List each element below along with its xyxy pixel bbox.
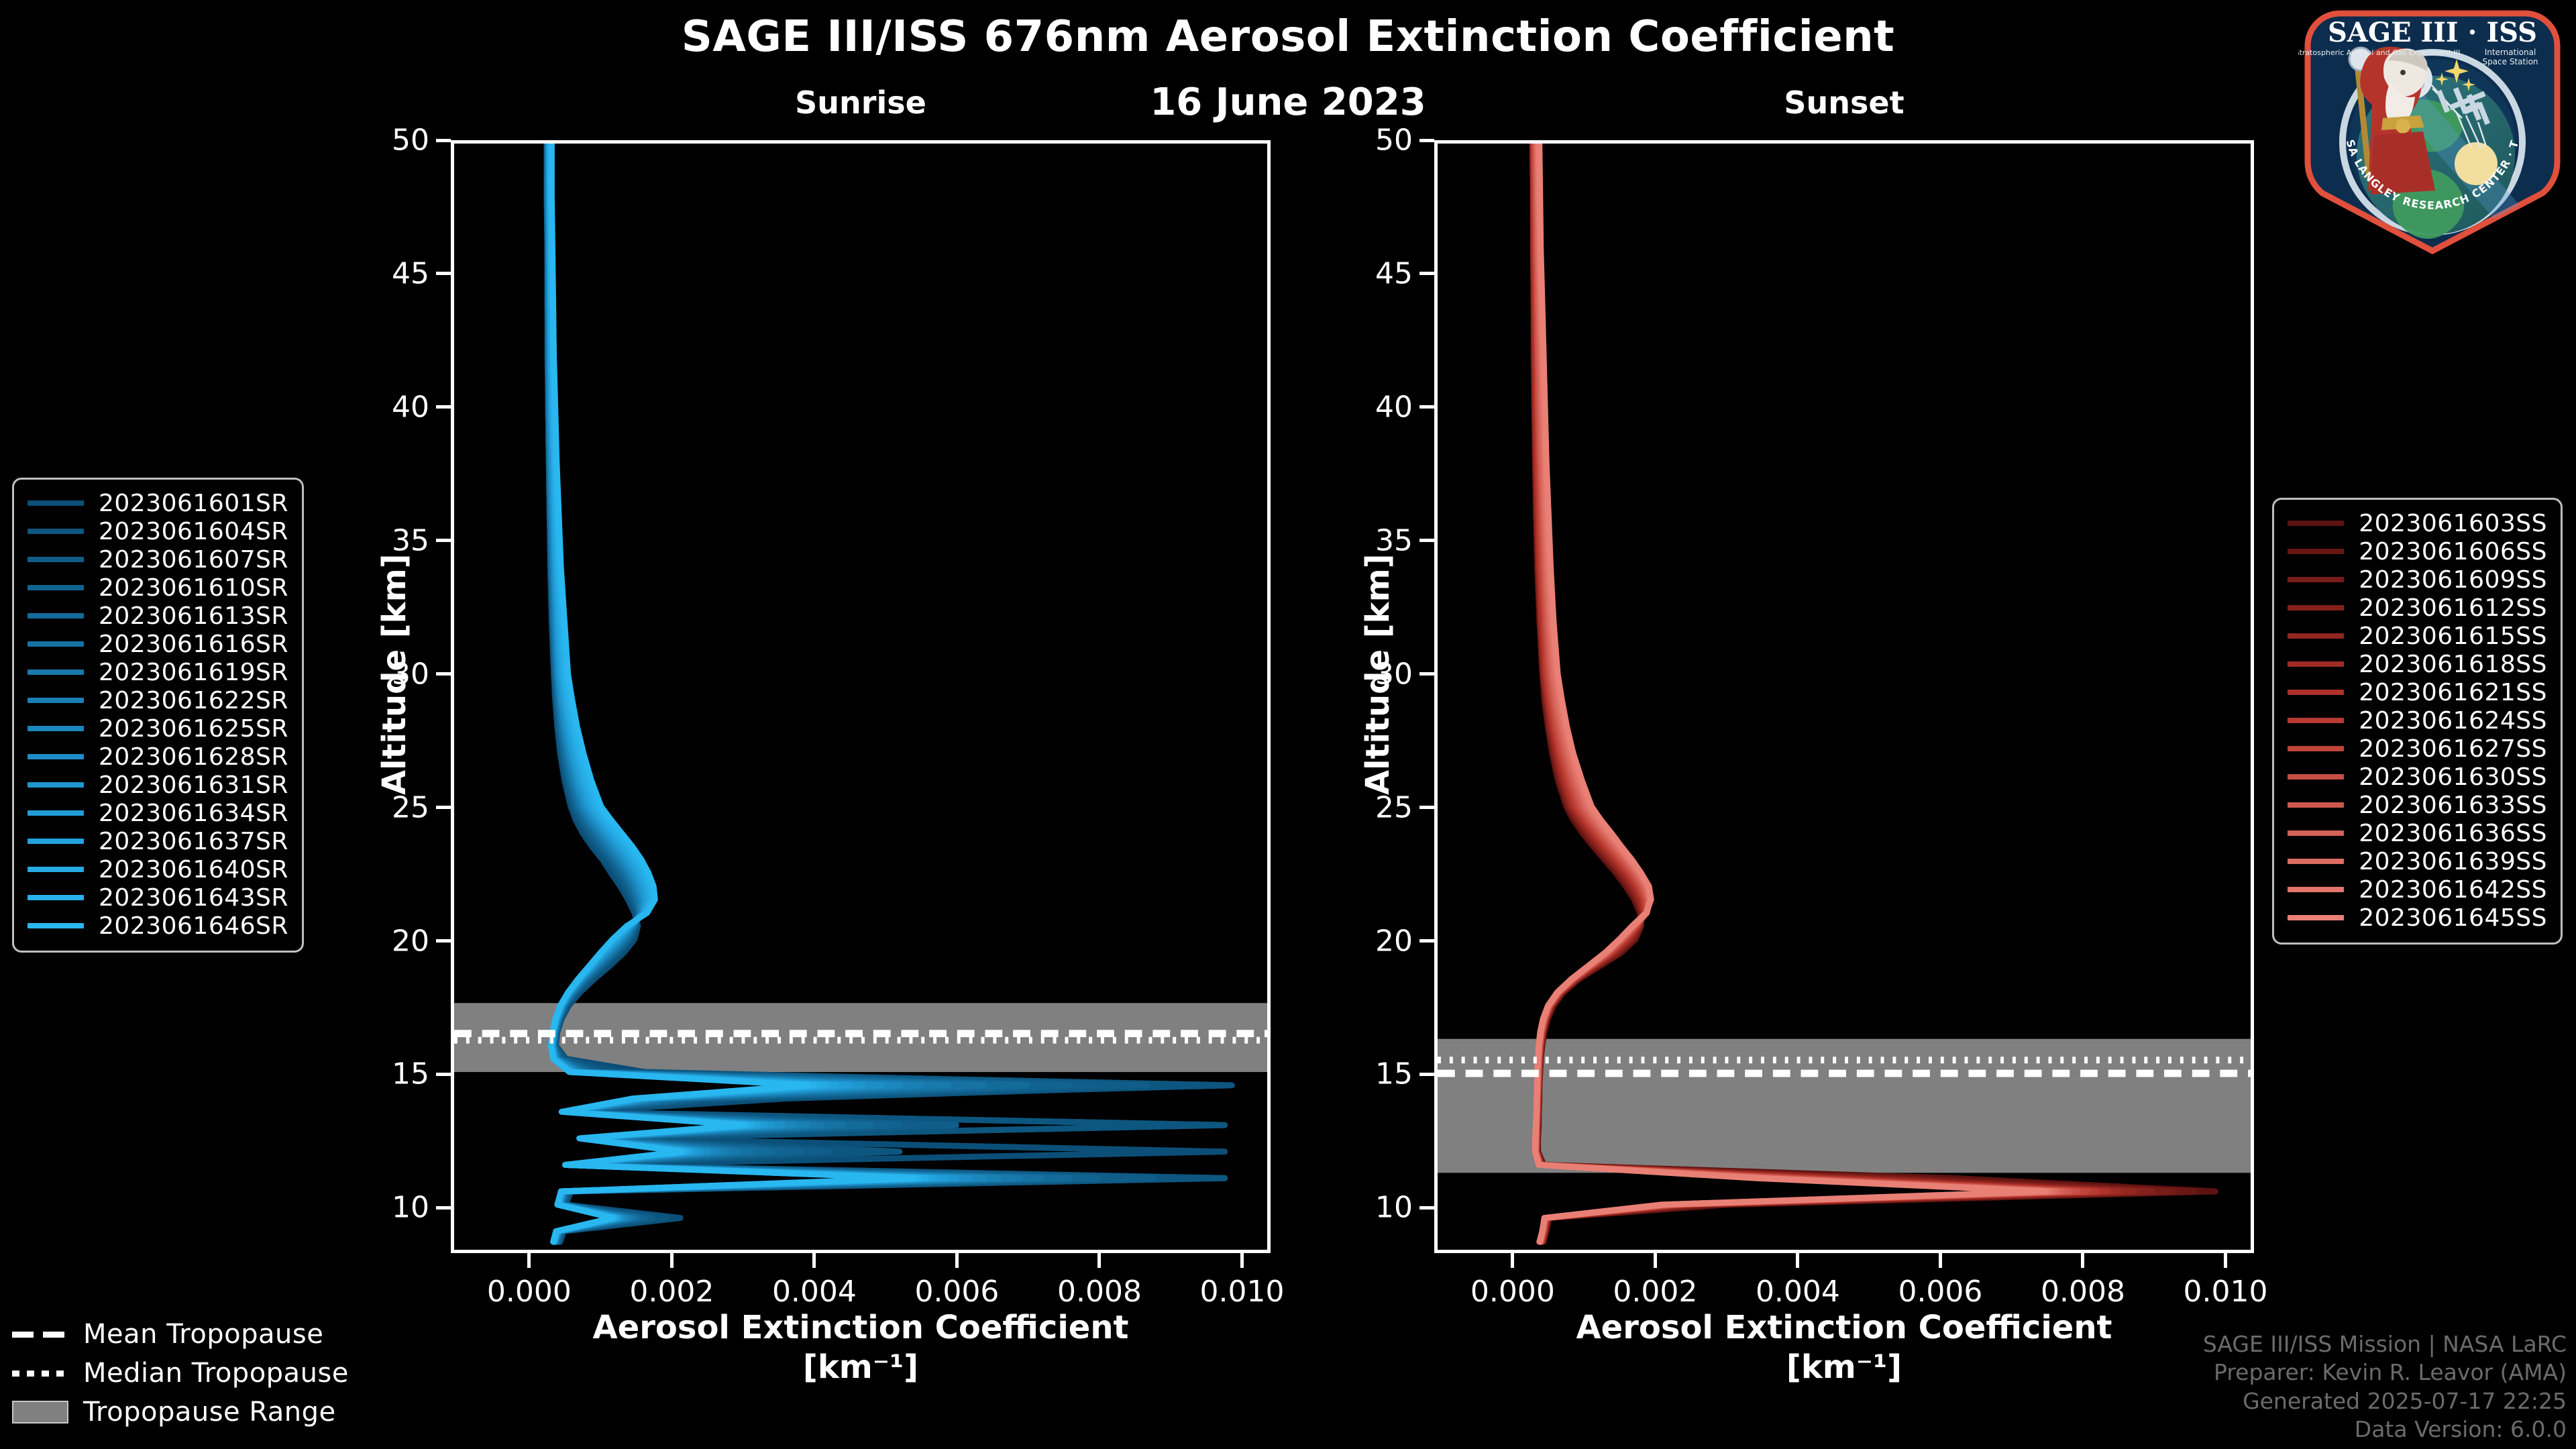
- xtick-label: 0.006: [1898, 1275, 1982, 1309]
- legend-item-label: Tropopause Range: [83, 1397, 336, 1428]
- legend-color-swatch: [28, 557, 84, 562]
- mean-tropopause-dashed-swatch: [12, 1326, 68, 1343]
- legend-item-2023061604SR[interactable]: 2023061604SR: [28, 517, 288, 545]
- ytick-label: 45: [343, 256, 429, 290]
- ytick-label: 20: [343, 924, 429, 958]
- legend-item-2023061643SR[interactable]: 2023061643SR: [28, 883, 288, 912]
- legend-item-2023061607SR[interactable]: 2023061607SR: [28, 545, 288, 574]
- ytick-mark: [436, 806, 451, 809]
- legend-item-label: Median Tropopause: [83, 1358, 349, 1389]
- legend-item-label: 2023061646SR: [99, 912, 288, 940]
- ytick-label: 20: [1327, 924, 1413, 958]
- legend-item-2023061612SS[interactable]: 2023061612SS: [2288, 594, 2547, 622]
- legend-item-2023061613SR[interactable]: 2023061613SR: [28, 602, 288, 630]
- profile-curves-sunrise: [454, 144, 1267, 1250]
- yaxis-title-sunrise: Altitude [km]: [376, 553, 413, 795]
- ytick-mark: [1419, 806, 1434, 809]
- legend-color-swatch: [2288, 549, 2344, 554]
- legend-item-label: 2023061603SS: [2359, 510, 2547, 537]
- page-title: SAGE III/ISS 676nm Aerosol Extinction Co…: [0, 12, 2576, 62]
- ytick-mark: [436, 672, 451, 676]
- xtick-mark: [1654, 1253, 1657, 1268]
- ytick-label: 40: [1327, 390, 1413, 424]
- xtick-label: 0.004: [772, 1275, 857, 1309]
- legend-item-label: 2023061628SR: [99, 743, 288, 771]
- legend-item-2023061634SR[interactable]: 2023061634SR: [28, 799, 288, 827]
- legend-item-label: 2023061621SS: [2359, 679, 2547, 706]
- logo-subtitle-right-1: International: [2485, 48, 2536, 57]
- legend-item-label: 2023061606SS: [2359, 538, 2547, 566]
- xaxis-title-line1: Aerosol Extinction Coefficient: [1434, 1308, 2254, 1348]
- ytick-mark: [436, 1073, 451, 1076]
- xtick-mark: [1796, 1253, 1799, 1268]
- credits-line-3: Generated 2025-07-17 22:25: [2203, 1387, 2567, 1415]
- legend-item-label: 2023061607SR: [99, 546, 288, 574]
- legend-color-swatch: [2288, 605, 2344, 610]
- xtick-mark: [2224, 1253, 2227, 1268]
- ytick-label: 15: [343, 1057, 429, 1091]
- legend-item-label: 2023061616SR: [99, 631, 288, 658]
- legend-item-2023061640SR[interactable]: 2023061640SR: [28, 855, 288, 883]
- legend-item-label: 2023061633SS: [2359, 792, 2547, 819]
- legend-color-swatch: [28, 698, 84, 703]
- xtick-label: 0.006: [914, 1275, 999, 1309]
- legend-item-label: 2023061637SR: [99, 828, 288, 855]
- ytick-mark: [436, 1206, 451, 1210]
- legend-item-2023061636SS[interactable]: 2023061636SS: [2288, 819, 2547, 847]
- legend-item-label: 2023061601SR: [99, 490, 288, 517]
- xtick-mark: [1511, 1253, 1514, 1268]
- credits: SAGE III/ISS Mission | NASA LaRC Prepare…: [2203, 1330, 2567, 1444]
- xaxis-title-line2: [km⁻¹]: [1434, 1348, 2254, 1387]
- ytick-label: 35: [343, 523, 429, 557]
- legend-color-swatch: [28, 585, 84, 590]
- legend-item-label: 2023061645SS: [2359, 904, 2547, 932]
- legend-item-label: 2023061604SR: [99, 518, 288, 545]
- legend-color-swatch: [2288, 633, 2344, 639]
- ytick-mark: [1419, 539, 1434, 542]
- legend-sunset[interactable]: 2023061603SS2023061606SS2023061609SS2023…: [2272, 498, 2563, 945]
- legend-item-label: 2023061613SR: [99, 602, 288, 630]
- legend-item-label: 2023061618SS: [2359, 651, 2547, 678]
- panel-title-sunrise: Sunrise: [451, 85, 1271, 121]
- legend-item-2023061645SS[interactable]: 2023061645SS: [2288, 904, 2547, 932]
- legend-sunrise[interactable]: 2023061601SR2023061604SR2023061607SR2023…: [12, 478, 304, 953]
- xtick-label: 0.000: [1470, 1275, 1555, 1309]
- legend-item-label: 2023061643SR: [99, 884, 288, 912]
- legend-color-swatch: [28, 529, 84, 534]
- legend-item-label: 2023061636SS: [2359, 820, 2547, 847]
- xtick-label: 0.008: [2041, 1275, 2125, 1309]
- xaxis-title-line2: [km⁻¹]: [451, 1348, 1271, 1387]
- ytick-label: 50: [1327, 123, 1413, 158]
- legend-item-label: 2023061634SR: [99, 800, 288, 827]
- legend-color-swatch: [2288, 690, 2344, 695]
- ytick-mark: [436, 405, 451, 409]
- legend-item-label: 2023061619SR: [99, 659, 288, 686]
- xtick-mark: [670, 1253, 674, 1268]
- legend-tropopause[interactable]: Mean TropopauseMedian TropopauseTropopau…: [12, 1315, 349, 1432]
- legend-color-swatch: [2288, 521, 2344, 526]
- legend-item-tropopause-range[interactable]: Tropopause Range: [12, 1393, 349, 1432]
- legend-item-label: 2023061612SS: [2359, 594, 2547, 622]
- ytick-mark: [436, 272, 451, 275]
- legend-item-2023061639SS[interactable]: 2023061639SS: [2288, 847, 2547, 875]
- xtick-mark: [955, 1253, 959, 1268]
- median-tropopause-dotted-swatch: [12, 1364, 68, 1382]
- legend-item-2023061625SR[interactable]: 2023061625SR: [28, 714, 288, 743]
- legend-item-2023061624SS[interactable]: 2023061624SS: [2288, 706, 2547, 735]
- legend-color-swatch: [2288, 774, 2344, 780]
- legend-item-mean-tropopause[interactable]: Mean Tropopause: [12, 1315, 349, 1354]
- legend-item-label: 2023061609SS: [2359, 566, 2547, 594]
- legend-color-swatch: [28, 810, 84, 816]
- xaxis-title-sunrise: Aerosol Extinction Coefficient [km⁻¹]: [451, 1308, 1271, 1387]
- legend-item-2023061619SR[interactable]: 2023061619SR: [28, 658, 288, 686]
- legend-color-swatch: [28, 867, 84, 872]
- ytick-label: 50: [343, 123, 429, 158]
- legend-color-swatch: [2288, 746, 2344, 751]
- legend-color-swatch: [28, 613, 84, 619]
- legend-color-swatch: [2288, 830, 2344, 836]
- legend-color-swatch: [28, 782, 84, 788]
- xaxis-title-sunset: Aerosol Extinction Coefficient [km⁻¹]: [1434, 1308, 2254, 1387]
- ytick-label: 45: [1327, 256, 1413, 290]
- ytick-label: 10: [1327, 1191, 1413, 1225]
- legend-item-2023061603SS[interactable]: 2023061603SS: [2288, 509, 2547, 537]
- ytick-mark: [1419, 939, 1434, 943]
- ytick-mark: [1419, 139, 1434, 142]
- legend-color-swatch: [2288, 887, 2344, 892]
- xtick-mark: [1939, 1253, 1942, 1268]
- legend-item-label: 2023061639SS: [2359, 848, 2547, 875]
- legend-item-label: Mean Tropopause: [83, 1319, 323, 1350]
- legend-item-label: 2023061624SS: [2359, 707, 2547, 735]
- legend-item-2023061615SS[interactable]: 2023061615SS: [2288, 622, 2547, 650]
- ytick-label: 25: [1327, 790, 1413, 824]
- legend-item-label: 2023061625SR: [99, 715, 288, 743]
- ytick-label: 15: [1327, 1057, 1413, 1091]
- legend-item-2023061621SS[interactable]: 2023061621SS: [2288, 678, 2547, 706]
- ytick-mark: [1419, 272, 1434, 275]
- legend-item-2023061627SS[interactable]: 2023061627SS: [2288, 735, 2547, 763]
- legend-item-2023061633SS[interactable]: 2023061633SS: [2288, 791, 2547, 819]
- legend-color-swatch: [28, 726, 84, 731]
- xtick-label: 0.002: [1613, 1275, 1697, 1309]
- credits-line-4: Data Version: 6.0.0: [2203, 1415, 2567, 1444]
- panel-title-sunset: Sunset: [1434, 85, 2254, 121]
- ytick-mark: [1419, 672, 1434, 676]
- legend-color-swatch: [28, 754, 84, 759]
- credits-line-1: SAGE III/ISS Mission | NASA LaRC: [2203, 1330, 2567, 1358]
- xtick-label: 0.010: [2184, 1275, 2268, 1309]
- ytick-mark: [1419, 1073, 1434, 1076]
- tropopause-range-swatch: [12, 1401, 68, 1424]
- logo-title: SAGE III · ISS: [2328, 17, 2537, 48]
- legend-item-2023061618SS[interactable]: 2023061618SS: [2288, 650, 2547, 678]
- ytick-mark: [436, 539, 451, 542]
- yaxis-title-sunset: Altitude [km]: [1359, 553, 1397, 795]
- figure-root: SAGE III/ISS 676nm Aerosol Extinction Co…: [0, 0, 2576, 1449]
- xtick-label: 0.008: [1057, 1275, 1142, 1309]
- legend-item-label: 2023061622SR: [99, 687, 288, 714]
- sage-iii-iss-mission-patch-logo: SAGE III · ISS Stratospheric Aerosol and…: [2298, 4, 2567, 256]
- legend-item-median-tropopause[interactable]: Median Tropopause: [12, 1354, 349, 1393]
- plot-area-sunrise: [451, 140, 1271, 1253]
- legend-color-swatch: [28, 669, 84, 675]
- legend-color-swatch: [2288, 802, 2344, 808]
- legend-color-swatch: [2288, 915, 2344, 920]
- xtick-mark: [812, 1253, 816, 1268]
- ytick-label: 10: [343, 1191, 429, 1225]
- profile-curves-sunset: [1438, 144, 2251, 1250]
- legend-item-label: 2023061631SR: [99, 771, 288, 799]
- legend-item-label: 2023061610SR: [99, 574, 288, 602]
- xtick-label: 0.000: [487, 1275, 572, 1309]
- legend-item-2023061646SR[interactable]: 2023061646SR: [28, 912, 288, 940]
- legend-item-2023061631SR[interactable]: 2023061631SR: [28, 771, 288, 799]
- xtick-label: 0.004: [1756, 1275, 1840, 1309]
- ytick-label: 25: [343, 790, 429, 824]
- xtick-mark: [2081, 1253, 2084, 1268]
- legend-item-2023061622SR[interactable]: 2023061622SR: [28, 686, 288, 714]
- legend-item-2023061637SR[interactable]: 2023061637SR: [28, 827, 288, 855]
- legend-item-2023061628SR[interactable]: 2023061628SR: [28, 743, 288, 771]
- legend-color-swatch: [2288, 859, 2344, 864]
- xtick-label: 0.010: [1200, 1275, 1285, 1309]
- xtick-label: 0.002: [629, 1275, 714, 1309]
- xtick-mark: [1240, 1253, 1244, 1268]
- legend-color-swatch: [28, 839, 84, 844]
- legend-item-2023061616SR[interactable]: 2023061616SR: [28, 630, 288, 658]
- legend-item-label: 2023061642SS: [2359, 876, 2547, 904]
- logo-subtitle-left: Stratospheric Aerosol and Gas Experiment…: [2298, 48, 2460, 57]
- legend-color-swatch: [2288, 718, 2344, 723]
- legend-color-swatch: [28, 895, 84, 900]
- xtick-mark: [527, 1253, 531, 1268]
- legend-item-2023061606SS[interactable]: 2023061606SS: [2288, 537, 2547, 566]
- legend-color-swatch: [2288, 577, 2344, 582]
- logo-subtitle-right-2: Space Station: [2482, 57, 2538, 66]
- credits-line-2: Preparer: Kevin R. Leavor (AMA): [2203, 1358, 2567, 1387]
- legend-item-label: 2023061640SR: [99, 856, 288, 883]
- legend-item-2023061642SS[interactable]: 2023061642SS: [2288, 875, 2547, 904]
- legend-item-label: 2023061630SS: [2359, 763, 2547, 791]
- legend-item-2023061610SR[interactable]: 2023061610SR: [28, 574, 288, 602]
- ytick-mark: [436, 939, 451, 943]
- legend-item-label: 2023061627SS: [2359, 735, 2547, 763]
- legend-item-2023061601SR[interactable]: 2023061601SR: [28, 489, 288, 517]
- ytick-mark: [1419, 1206, 1434, 1210]
- ytick-label: 40: [343, 390, 429, 424]
- legend-item-2023061609SS[interactable]: 2023061609SS: [2288, 566, 2547, 594]
- xtick-mark: [1097, 1253, 1101, 1268]
- ytick-mark: [436, 139, 451, 142]
- xaxis-title-line1: Aerosol Extinction Coefficient: [451, 1308, 1271, 1348]
- plot-area-sunset: [1434, 140, 2254, 1253]
- ytick-mark: [1419, 405, 1434, 409]
- legend-color-swatch: [28, 500, 84, 506]
- legend-item-label: 2023061615SS: [2359, 623, 2547, 650]
- legend-item-2023061630SS[interactable]: 2023061630SS: [2288, 763, 2547, 791]
- legend-color-swatch: [28, 641, 84, 647]
- legend-color-swatch: [28, 923, 84, 928]
- legend-color-swatch: [2288, 661, 2344, 667]
- ytick-label: 35: [1327, 523, 1413, 557]
